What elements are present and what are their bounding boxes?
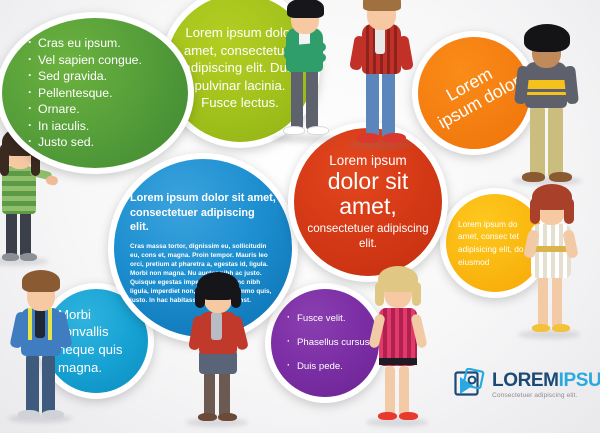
purple-bullet-list: Fusce velit. Phasellus cursus. Duis pede…	[287, 307, 369, 379]
list-item: Sed gravida.	[28, 68, 178, 85]
character-boy-red-plaid-shirt	[340, 0, 424, 154]
red-line-2: dolor sit amet,	[304, 169, 432, 219]
list-item: Cras eu ipsum.	[28, 35, 178, 52]
poster-canvas: Cras eu ipsum. Vel sapien congue. Sed gr…	[0, 0, 600, 433]
list-item: Ornare.	[28, 101, 178, 118]
brand-logo[interactable]: LOREMIPSUM Consectetuer adipiscing elit.	[452, 368, 600, 401]
character-girl-striped-dress	[512, 178, 590, 346]
list-item: Phasellus cursus.	[287, 331, 369, 355]
character-boy-green-jacket	[265, 0, 345, 148]
list-item: Fusce velit.	[287, 307, 369, 331]
blue-heading: Lorem ipsum dolor sit amet, consectetuer…	[130, 191, 276, 235]
character-girl-red-jacket	[178, 268, 260, 432]
red-line-3: consectetuer adipiscing elit.	[304, 221, 432, 251]
logo-mark-icon	[452, 368, 485, 401]
list-item: Vel sapien congue.	[28, 52, 178, 69]
red-line-1: Lorem ipsum	[304, 153, 432, 169]
green-bullet-list: Cras eu ipsum. Vel sapien congue. Sed gr…	[28, 35, 178, 151]
character-boy-blue-jacket	[2, 262, 82, 430]
logo-name-part1: LOREM	[492, 370, 559, 391]
character-boy-grey-yellow-sweater	[504, 22, 590, 192]
character-girl-pink-dress	[358, 258, 440, 433]
logo-name-part2: IPSUM	[559, 370, 600, 391]
list-item: Pellentesque.	[28, 85, 178, 102]
list-item: Justo sed.	[28, 134, 178, 151]
logo-wordmark: LOREMIPSUM	[492, 371, 600, 390]
logo-tagline: Consectetuer adipiscing elit.	[492, 392, 600, 399]
list-item: In iaculis.	[28, 118, 178, 135]
bubble-green-list[interactable]: Cras eu ipsum. Vel sapien congue. Sed gr…	[0, 12, 194, 174]
list-item: Duis pede.	[287, 355, 369, 379]
